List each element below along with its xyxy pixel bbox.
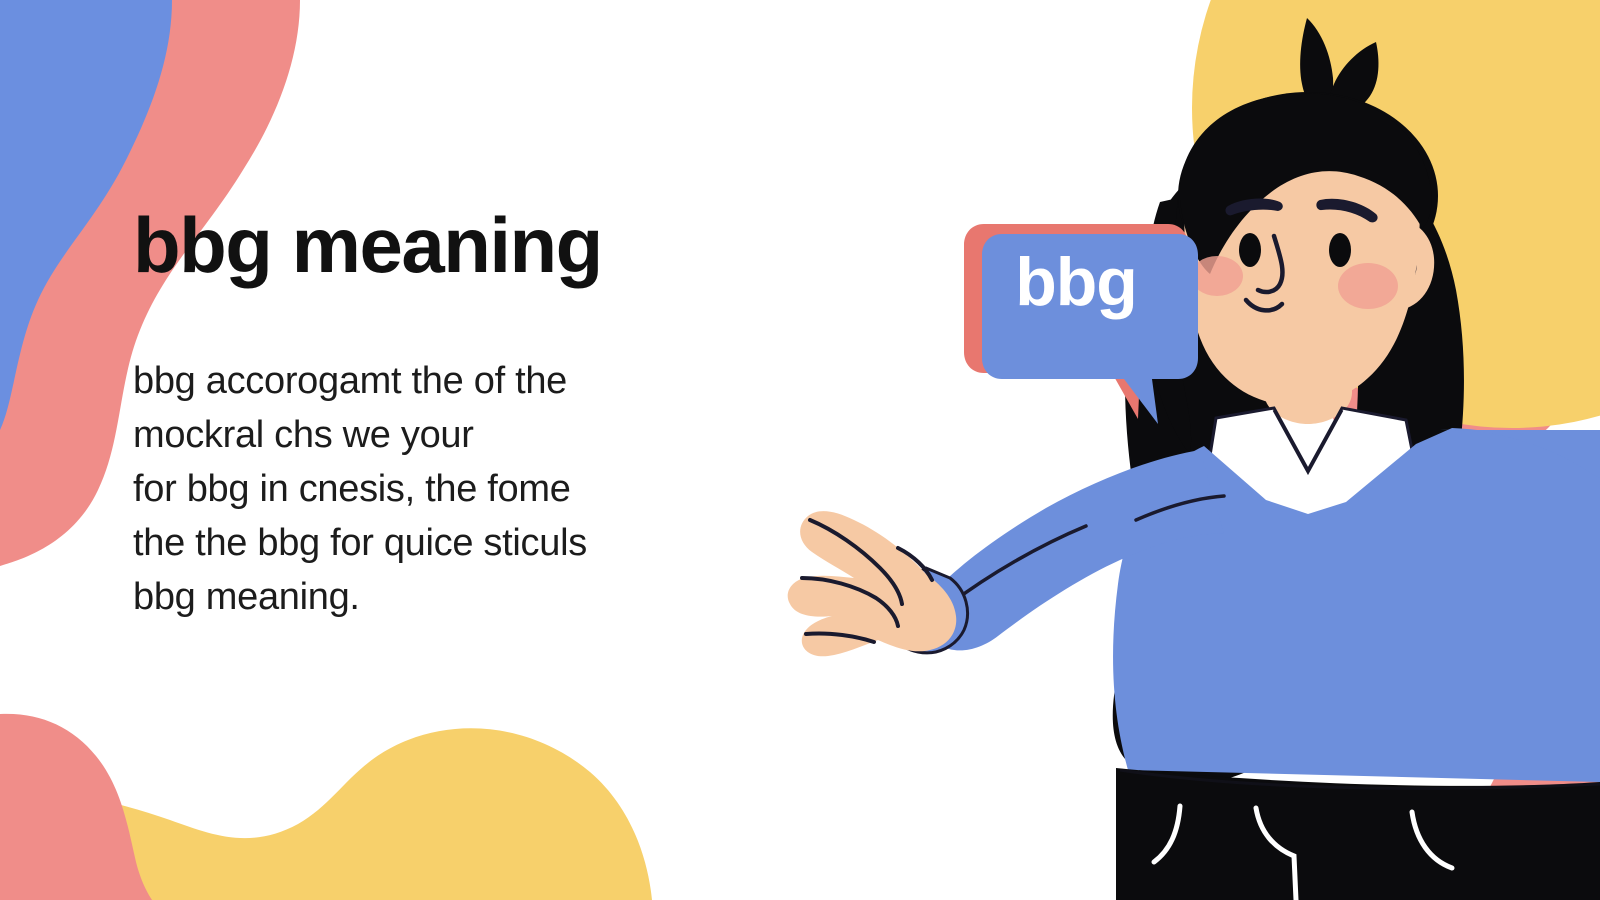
text-column: bbg meaning bbg accorogamt the of the mo… xyxy=(133,205,813,625)
slide-canvas: bbg meaning bbg accorogamt the of the mo… xyxy=(0,0,1600,900)
speech-bubble-fill xyxy=(982,234,1198,424)
body-line: the the bbg for quice sticuls xyxy=(133,517,813,571)
eye-right xyxy=(1329,233,1351,267)
page-title: bbg meaning xyxy=(133,205,813,287)
blush-right xyxy=(1338,263,1398,309)
body-line: bbg meaning. xyxy=(133,571,813,625)
bottom-left-coral-blob xyxy=(0,714,152,900)
eye-left xyxy=(1239,233,1261,267)
body-line: mockral chs we your xyxy=(133,409,813,463)
speech-bubble: bbg xyxy=(962,212,1202,427)
body-paragraph: bbg accorogamt the of the mockral chs we… xyxy=(133,355,813,625)
body-line: for bbg in cnesis, the fome xyxy=(133,463,813,517)
character-illustration xyxy=(780,0,1600,900)
body-line: bbg accorogamt the of the xyxy=(133,355,813,409)
shirt-hem xyxy=(1066,752,1116,900)
bottom-left-yellow-blob xyxy=(0,728,652,900)
